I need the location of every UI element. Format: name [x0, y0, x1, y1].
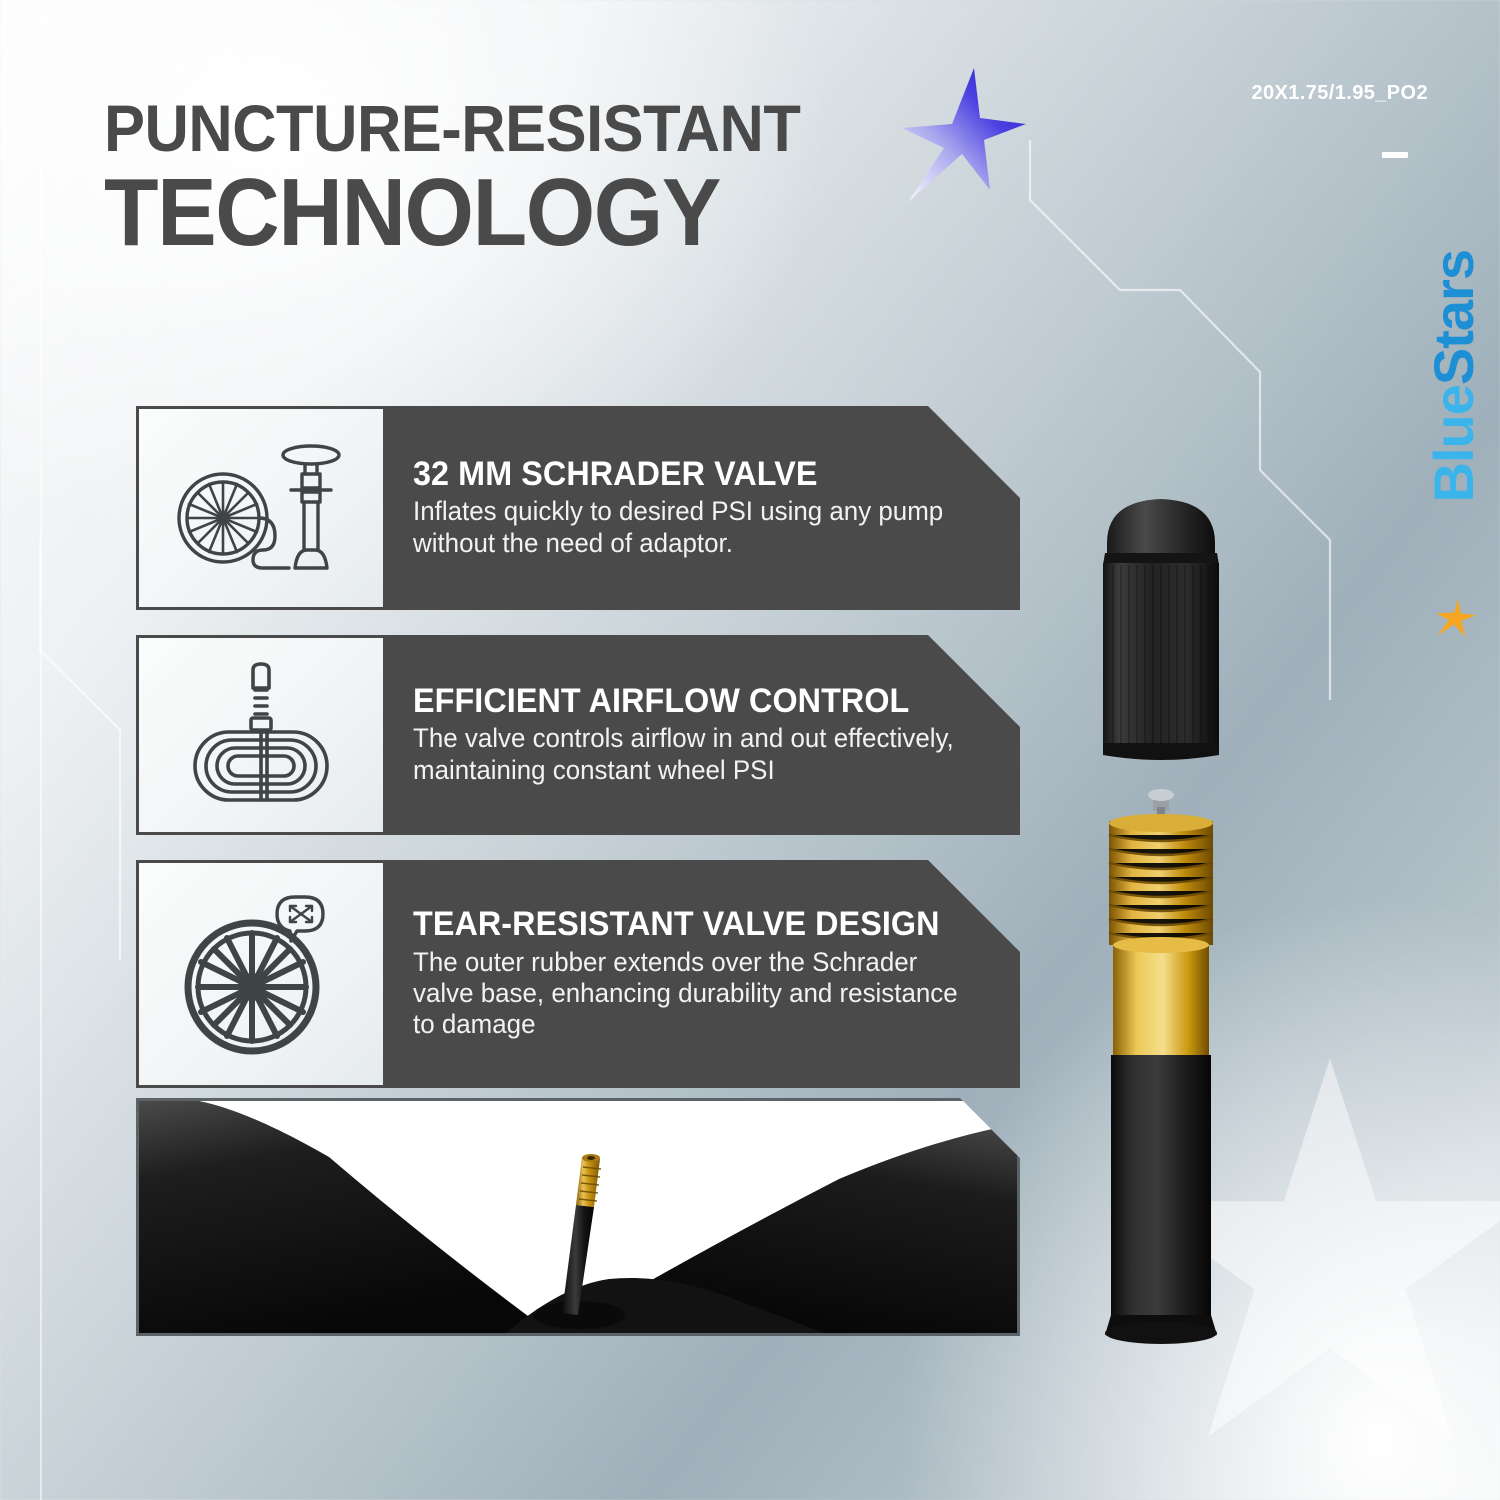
feature-card-1: 32 MM SCHRADER VALVE Inflates quickly to…	[136, 406, 1020, 610]
feature-description-1: Inflates quickly to desired PSI using an…	[413, 496, 967, 559]
feature-title-1: 32 MM SCHRADER VALVE	[413, 457, 961, 492]
feature-banner-3: TEAR-RESISTANT VALVE DESIGN The outer ru…	[385, 860, 1020, 1088]
inner-tube-photo	[136, 1098, 1020, 1336]
inner-tube-illustration	[139, 1101, 1020, 1336]
feature-title-3: TEAR-RESISTANT VALVE DESIGN	[413, 907, 961, 942]
feature-banner-2: EFFICIENT AIRFLOW CONTROL The valve cont…	[385, 635, 1020, 835]
brand-name-part1: Blue	[1422, 385, 1485, 502]
feature-card-2: EFFICIENT AIRFLOW CONTROL The valve cont…	[136, 635, 1020, 835]
valve-gold-body	[1113, 937, 1209, 1059]
spoked-wheel-expand-icon	[174, 887, 349, 1062]
feature-card-3: TEAR-RESISTANT VALVE DESIGN The outer ru…	[136, 860, 1020, 1088]
divider-dash	[1382, 152, 1408, 158]
feature-icon-box-3	[136, 860, 386, 1088]
feature-description-2: The valve controls airflow in and out ef…	[413, 723, 967, 786]
brand-logo: BlueStars	[1426, 250, 1482, 502]
valve-assembly-illustration	[1085, 495, 1265, 1355]
brand-name-part2: Stars	[1422, 250, 1485, 385]
valve-rubber-base	[1105, 1055, 1217, 1344]
sku-label: 20X1.75/1.95_PO2	[1251, 82, 1428, 105]
feature-banner-1: 32 MM SCHRADER VALVE Inflates quickly to…	[385, 406, 1020, 610]
page-title: PUNCTURE-RESISTANT TECHNOLOGY	[104, 96, 1004, 259]
bike-pump-icon	[171, 436, 351, 581]
valve-cap	[1103, 499, 1219, 760]
title-line-1: PUNCTURE-RESISTANT	[104, 96, 941, 161]
feature-title-2: EFFICIENT AIRFLOW CONTROL	[413, 684, 961, 719]
left-accent-line	[40, 0, 42, 1500]
star-icon	[900, 62, 1030, 212]
coiled-inner-tube-icon	[181, 660, 341, 810]
valve-threads	[1109, 814, 1213, 945]
feature-icon-box-1	[136, 406, 386, 610]
feature-description-3: The outer rubber extends over the Schrad…	[413, 947, 967, 1041]
valve-assembly-photo	[1085, 495, 1265, 1355]
title-line-2: TECHNOLOGY	[104, 167, 941, 259]
feature-icon-box-2	[136, 635, 386, 835]
brand-star-icon	[1434, 595, 1480, 641]
